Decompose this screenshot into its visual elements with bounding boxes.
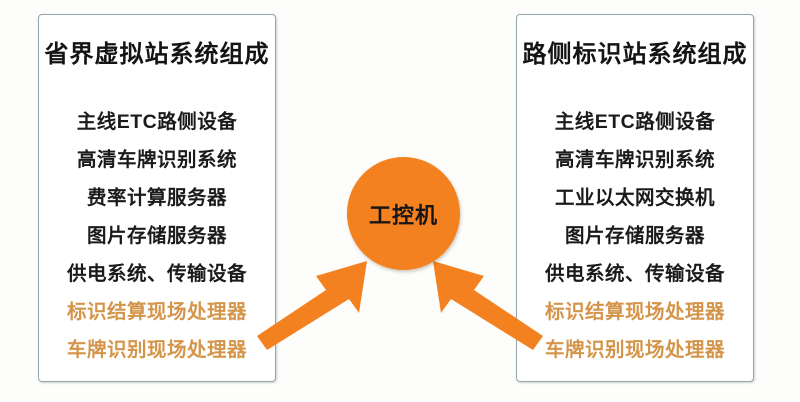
panel-right-item: 高清车牌识别系统 [517, 141, 753, 179]
panel-left-item-list: 主线ETC路侧设备高清车牌识别系统费率计算服务器图片存储服务器供电系统、传输设备… [39, 103, 275, 369]
panel-left-item: 主线ETC路侧设备 [39, 103, 275, 141]
panel-right-item: 图片存储服务器 [517, 217, 753, 255]
panel-left-item: 标识结算现场处理器 [39, 293, 275, 331]
panel-right-item: 工业以太网交换机 [517, 179, 753, 217]
panel-left-item: 图片存储服务器 [39, 217, 275, 255]
panel-left-item: 供电系统、传输设备 [39, 255, 275, 293]
panel-right: 路侧标识站系统组成 主线ETC路侧设备高清车牌识别系统工业以太网交换机图片存储服… [516, 14, 754, 382]
panel-left-item: 费率计算服务器 [39, 179, 275, 217]
panel-right-item: 主线ETC路侧设备 [517, 103, 753, 141]
panel-right-item: 车牌识别现场处理器 [517, 331, 753, 369]
diagram-canvas: 省界虚拟站系统组成 主线ETC路侧设备高清车牌识别系统费率计算服务器图片存储服务… [0, 0, 800, 402]
panel-right-item: 供电系统、传输设备 [517, 255, 753, 293]
panel-left-item: 高清车牌识别系统 [39, 141, 275, 179]
central-hub-node: 工控机 [347, 157, 460, 270]
panel-left: 省界虚拟站系统组成 主线ETC路侧设备高清车牌识别系统费率计算服务器图片存储服务… [38, 14, 276, 382]
panel-left-title: 省界虚拟站系统组成 [39, 43, 275, 67]
panel-left-item: 车牌识别现场处理器 [39, 331, 275, 369]
panel-right-title: 路侧标识站系统组成 [517, 43, 753, 67]
central-hub-label: 工控机 [347, 198, 460, 230]
panel-right-item-list: 主线ETC路侧设备高清车牌识别系统工业以太网交换机图片存储服务器供电系统、传输设… [517, 103, 753, 369]
panel-right-item: 标识结算现场处理器 [517, 293, 753, 331]
